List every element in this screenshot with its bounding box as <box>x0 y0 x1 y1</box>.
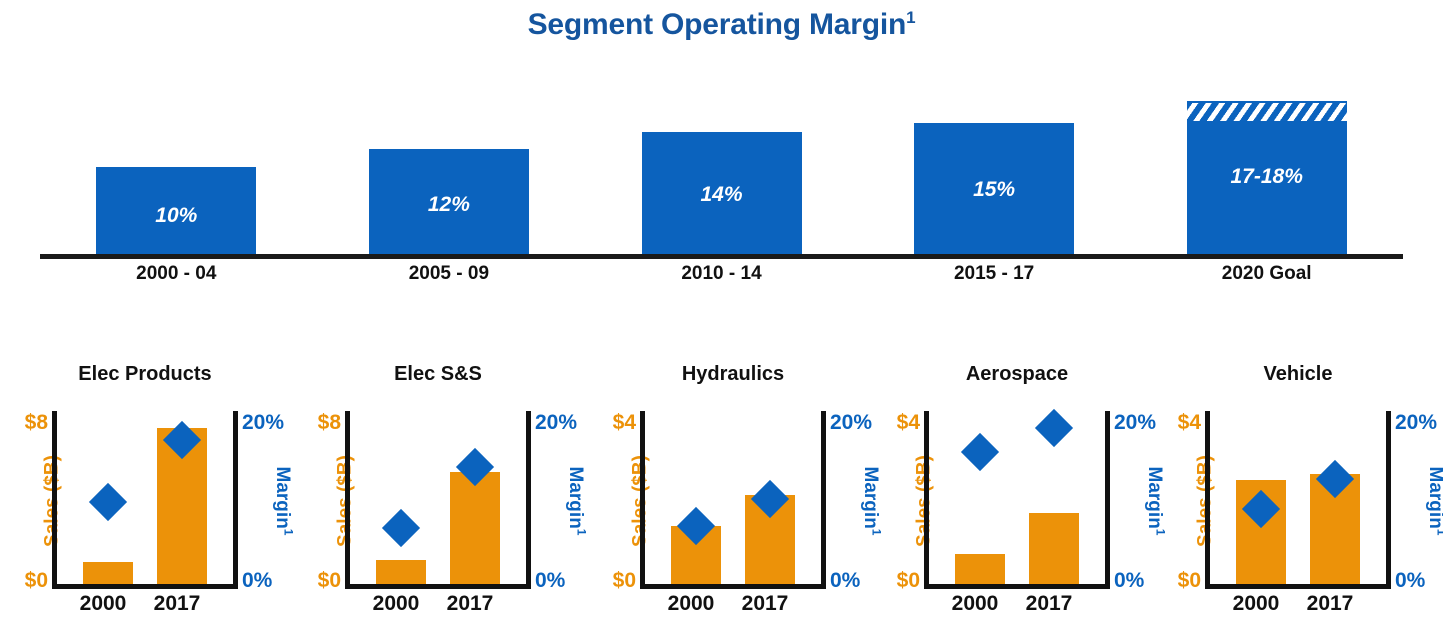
margin-axis-title-text: Margin <box>565 466 586 528</box>
margin-axis-title: Margin1 <box>273 466 292 535</box>
margin-axis: 20%0%Margin1 <box>1391 408 1443 593</box>
margin-axis: 20%0%Margin1 <box>531 408 583 593</box>
main-bar-slot: 15% <box>914 62 1074 254</box>
mini-x-axis-labels: 20002017 <box>1205 592 1391 624</box>
sales-axis-tick-max: $4 <box>588 412 636 433</box>
main-category-label: 2020 Goal <box>1137 263 1397 285</box>
mini-x-label: 2000 <box>1219 592 1293 616</box>
main-category-label: 2010 - 14 <box>592 263 852 285</box>
margin-axis-footnote-marker: 1 <box>574 528 588 535</box>
margin-axis: 20%0%Margin1 <box>238 408 290 593</box>
main-category-label: 2005 - 09 <box>319 263 579 285</box>
mini-plot-area <box>57 411 233 584</box>
main-bar-value-label: 17-18% <box>1187 165 1347 189</box>
sales-axis-tick-min: $0 <box>293 570 341 591</box>
mini-plot-area <box>1210 411 1386 584</box>
mini-chart-hydraulics: Hydraulics$4$0Sales ($B)20%0%Margin12000… <box>588 358 878 629</box>
mini-x-label: 2017 <box>140 592 214 616</box>
page-title-footnote-marker: 1 <box>906 8 915 27</box>
margin-axis-tick-max: 20% <box>535 412 583 433</box>
main-bar[interactable]: 14% <box>642 132 802 254</box>
sales-axis-tick-max: $4 <box>872 412 920 433</box>
mini-x-label: 2000 <box>938 592 1012 616</box>
mini-x-label: 2000 <box>654 592 728 616</box>
sales-axis: $4$0Sales ($B) <box>1153 408 1205 593</box>
mini-chart-elec-products: Elec Products$8$0Sales ($B)20%0%Margin12… <box>0 358 290 629</box>
mini-x-label: 2000 <box>359 592 433 616</box>
mini-plot-frame <box>1205 411 1391 589</box>
margin-axis-title: Margin1 <box>566 466 585 535</box>
mini-plot-frame <box>52 411 238 589</box>
main-bar-value-label: 12% <box>369 193 529 217</box>
margin-axis-footnote-marker: 1 <box>1434 528 1443 535</box>
mini-x-axis-labels: 20002017 <box>640 592 826 624</box>
margin-axis-tick-min: 0% <box>830 570 878 591</box>
mini-bar-sales[interactable] <box>1029 513 1079 584</box>
margin-axis-tick-max: 20% <box>1395 412 1443 433</box>
mini-chart-title: Hydraulics <box>588 363 878 386</box>
main-bar-slot: 10% <box>96 62 256 254</box>
mini-chart-vehicle: Vehicle$4$0Sales ($B)20%0%Margin12000201… <box>1153 358 1443 629</box>
margin-axis-title: Margin1 <box>1426 466 1443 535</box>
sales-axis-tick-min: $0 <box>872 570 920 591</box>
main-bar-value-label: 14% <box>642 183 802 207</box>
sales-axis: $4$0Sales ($B) <box>872 408 924 593</box>
margin-axis-tick-min: 0% <box>242 570 290 591</box>
sales-axis-tick-max: $8 <box>0 412 48 433</box>
main-bar-slot: 12% <box>369 62 529 254</box>
main-chart-axis-line <box>40 254 1403 259</box>
margin-axis-title-text: Margin <box>272 466 293 528</box>
mini-x-label: 2017 <box>1012 592 1086 616</box>
mini-bar-sales[interactable] <box>376 560 426 584</box>
main-category-label: 2015 - 17 <box>864 263 1124 285</box>
mini-marker-margin-diamond[interactable] <box>89 483 127 521</box>
sales-axis-tick-max: $8 <box>293 412 341 433</box>
mini-bar-sales[interactable] <box>450 472 500 584</box>
margin-axis-tick-min: 0% <box>1395 570 1443 591</box>
mini-marker-margin-diamond[interactable] <box>382 509 420 547</box>
mini-marker-margin-diamond[interactable] <box>1035 409 1073 447</box>
margin-axis-tick-max: 20% <box>830 412 878 433</box>
main-chart-plot-area: 10%12%14%15%17-18% <box>40 62 1403 254</box>
margin-axis-tick-max: 20% <box>242 412 290 433</box>
main-bar-value-label: 10% <box>96 204 256 228</box>
mini-plot-frame <box>345 411 531 589</box>
sales-axis: $8$0Sales ($B) <box>293 408 345 593</box>
main-bar[interactable]: 15% <box>914 123 1074 254</box>
main-bar[interactable]: 10% <box>96 167 256 254</box>
main-bar[interactable]: 17-18% <box>1187 101 1347 254</box>
mini-chart-title: Aerospace <box>872 363 1162 386</box>
mini-x-axis-labels: 20002017 <box>52 592 238 624</box>
margin-axis-tick-min: 0% <box>535 570 583 591</box>
mini-x-label: 2017 <box>1293 592 1367 616</box>
sales-axis-tick-min: $0 <box>1153 570 1201 591</box>
mini-x-label: 2000 <box>66 592 140 616</box>
mini-plot-frame <box>640 411 826 589</box>
segment-operating-margin-chart: 10%12%14%15%17-18% 2000 - 042005 - 09201… <box>40 62 1403 292</box>
mini-x-axis-labels: 20002017 <box>345 592 531 624</box>
main-bar[interactable]: 12% <box>369 149 529 254</box>
mini-marker-margin-diamond[interactable] <box>961 433 999 471</box>
mini-chart-elec-s-and-s: Elec S&S$8$0Sales ($B)20%0%Margin1200020… <box>293 358 583 629</box>
mini-plot-area <box>350 411 526 584</box>
main-category-label: 2000 - 04 <box>46 263 306 285</box>
main-bar-value-label: 15% <box>914 178 1074 202</box>
mini-chart-aerospace: Aerospace$4$0Sales ($B)20%0%Margin120002… <box>872 358 1162 629</box>
mini-x-axis-labels: 20002017 <box>924 592 1110 624</box>
mini-bar-sales[interactable] <box>83 562 133 584</box>
mini-chart-title: Elec S&S <box>293 363 583 386</box>
mini-chart-title: Elec Products <box>0 363 290 386</box>
segment-detail-charts: Elec Products$8$0Sales ($B)20%0%Margin12… <box>0 358 1443 629</box>
mini-x-label: 2017 <box>728 592 802 616</box>
main-bar-slot: 17-18% <box>1187 62 1347 254</box>
mini-x-label: 2017 <box>433 592 507 616</box>
mini-bar-sales[interactable] <box>955 554 1005 584</box>
sales-axis-tick-max: $4 <box>1153 412 1201 433</box>
mini-plot-frame <box>924 411 1110 589</box>
mini-plot-area <box>929 411 1105 584</box>
page-title: Segment Operating Margin1 <box>0 8 1443 42</box>
page-title-text: Segment Operating Margin <box>528 8 907 41</box>
margin-axis-title-text: Margin <box>1425 466 1443 528</box>
sales-axis: $8$0Sales ($B) <box>0 408 52 593</box>
sales-axis: $4$0Sales ($B) <box>588 408 640 593</box>
main-bar-slot: 14% <box>642 62 802 254</box>
sales-axis-tick-min: $0 <box>588 570 636 591</box>
mini-chart-title: Vehicle <box>1153 363 1443 386</box>
sales-axis-tick-min: $0 <box>0 570 48 591</box>
margin-axis: 20%0%Margin1 <box>826 408 878 593</box>
mini-plot-area <box>645 411 821 584</box>
